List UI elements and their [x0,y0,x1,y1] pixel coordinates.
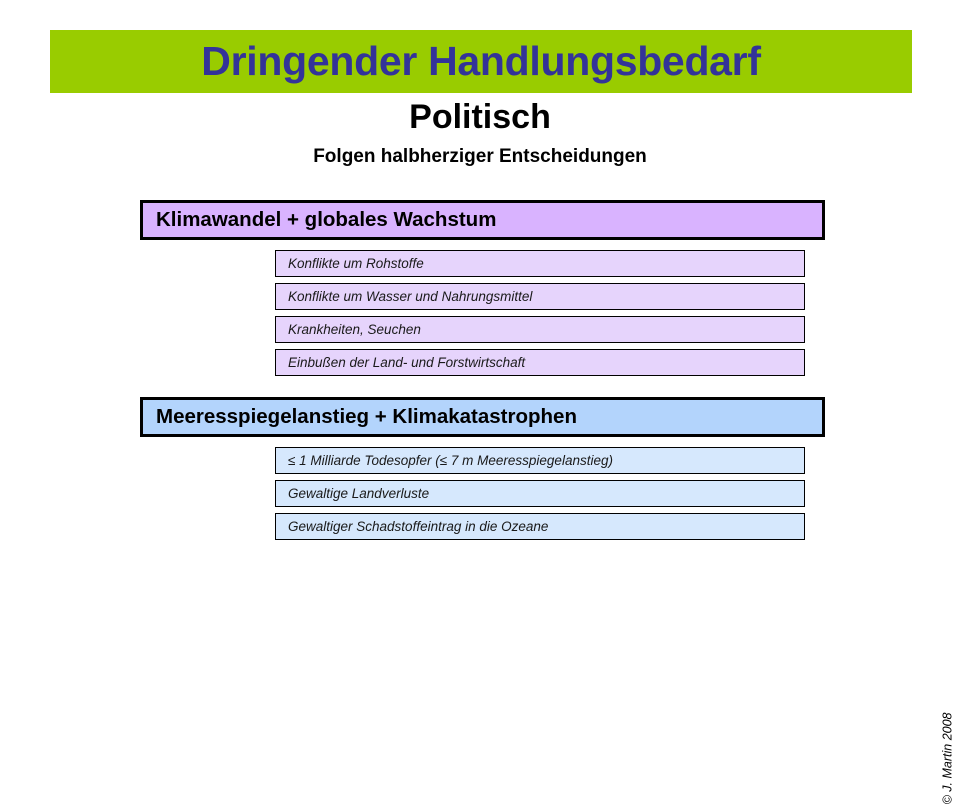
list-item: Gewaltige Landverluste [275,480,805,507]
section-subheading: Folgen halbherziger Entscheidungen [0,147,960,167]
list-item-label: Konflikte um Wasser und Nahrungsmittel [288,290,532,304]
list-item: Krankheiten, Seuchen [275,316,805,343]
list-item-label: Krankheiten, Seuchen [288,323,421,337]
group-item-list: Konflikte um Rohstoffe Konflikte um Wass… [275,250,805,376]
list-item: Einbußen der Land- und Forstwirtschaft [275,349,805,376]
list-item-label: Einbußen der Land- und Forstwirtschaft [288,356,525,370]
group-header-meeresspiegelanstieg: Meeresspiegelanstieg + Klimakatastrophen [140,397,825,437]
list-item-label: Gewaltiger Schadstoffeintrag in die Ozea… [288,520,548,534]
list-item-label: Gewaltige Landverluste [288,487,429,501]
title-banner: Dringender Handlungsbedarf [50,30,912,93]
group-header-label: Meeresspiegelanstieg + Klimakatastrophen [156,407,577,428]
section-heading: Politisch [0,100,960,136]
list-item-label: Konflikte um Rohstoffe [288,257,424,271]
list-item-label: ≤ 1 Milliarde Todesopfer (≤ 7 m Meeressp… [288,454,613,468]
group-header-klimawandel: Klimawandel + globales Wachstum [140,200,825,240]
group-klimawandel: Klimawandel + globales Wachstum Konflikt… [140,200,825,382]
list-item: Konflikte um Rohstoffe [275,250,805,277]
group-meeresspiegelanstieg: Meeresspiegelanstieg + Klimakatastrophen… [140,397,825,546]
list-item: ≤ 1 Milliarde Todesopfer (≤ 7 m Meeressp… [275,447,805,474]
group-item-list: ≤ 1 Milliarde Todesopfer (≤ 7 m Meeressp… [275,447,805,540]
list-item: Konflikte um Wasser und Nahrungsmittel [275,283,805,310]
slide-title: Dringender Handlungsbedarf [201,41,760,82]
copyright-notice: © J. Martin 2008 [942,712,955,804]
group-header-label: Klimawandel + globales Wachstum [156,210,496,231]
list-item: Gewaltiger Schadstoffeintrag in die Ozea… [275,513,805,540]
